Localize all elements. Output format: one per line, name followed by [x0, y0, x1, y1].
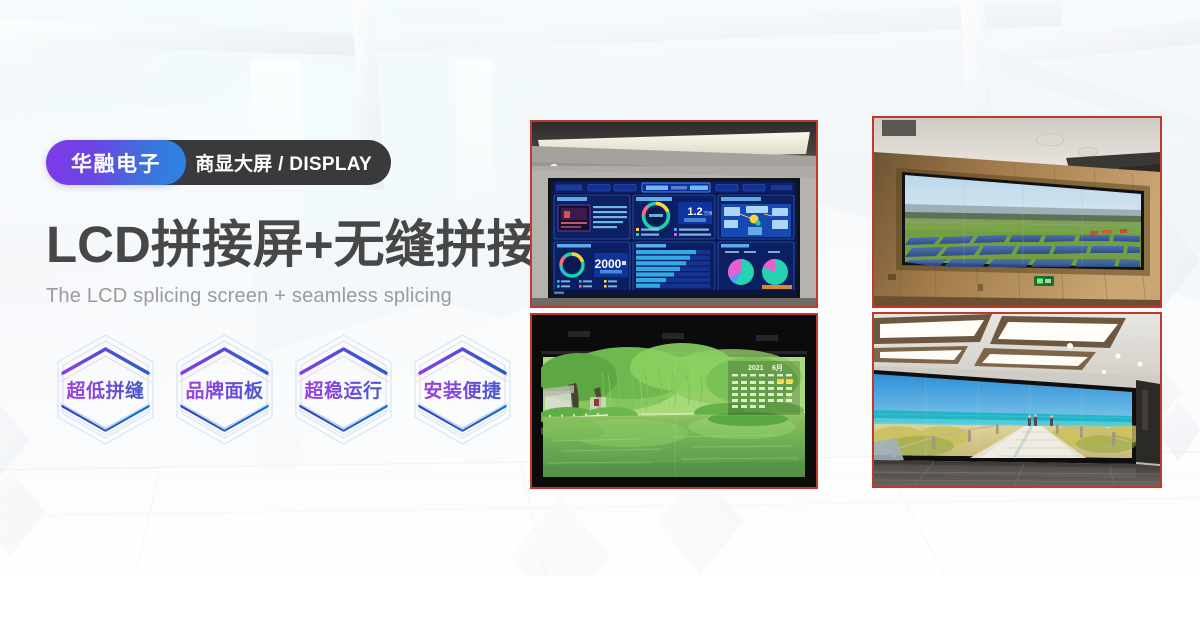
feature-badge-label: 安装便捷 [403, 376, 522, 403]
pond-scenery-videowall-photo: 2021 6月 [532, 315, 816, 487]
svg-text:6月: 6月 [772, 364, 783, 372]
feature-badge-1[interactable]: 品牌面板 [165, 332, 284, 447]
feature-badge-0[interactable]: 超低拼缝 [46, 332, 165, 447]
feature-badge-3[interactable]: 安装便捷 [403, 332, 522, 447]
feature-badge-label: 超低拼缝 [46, 376, 165, 403]
feature-badge-label: 超稳运行 [284, 376, 403, 403]
page-title: LCD拼接屏+无缝拼接 [46, 218, 516, 272]
feature-badge-2[interactable]: 超稳运行 [284, 332, 403, 447]
svg-text:2021: 2021 [748, 365, 764, 372]
brand-badge-label: 华融电子 [71, 148, 161, 178]
feature-badge-label: 品牌面板 [165, 376, 284, 403]
gallery-photo-top-right[interactable] [872, 116, 1162, 308]
banner-text-column: 商显大屏 / DISPLAY 华融电子 LCD拼接屏+无缝拼接 The LCD … [46, 140, 516, 308]
feature-badge-row: 超低拼缝 品牌面板 [46, 332, 522, 447]
svg-text:2000: 2000 [595, 257, 622, 271]
brand-badge-group: 商显大屏 / DISPLAY 华融电子 [46, 140, 391, 185]
beach-boardwalk-videowall-photo [874, 314, 1160, 486]
dashboard-videowall-photo: 1.2 万项 [532, 122, 816, 306]
solar-farm-videowall-photo [874, 118, 1160, 306]
svg-text:1.2: 1.2 [687, 206, 702, 218]
brand-badge: 华融电子 [46, 140, 186, 185]
gallery-photo-bottom-left[interactable]: 2021 6月 [530, 313, 818, 489]
page-subtitle: The LCD splicing screen + seamless splic… [46, 285, 516, 308]
gallery-photo-top-left[interactable]: 1.2 万项 [530, 120, 818, 308]
gallery-photo-bottom-right[interactable] [872, 312, 1162, 488]
category-badge-label: 商显大屏 / DISPLAY [195, 149, 372, 176]
